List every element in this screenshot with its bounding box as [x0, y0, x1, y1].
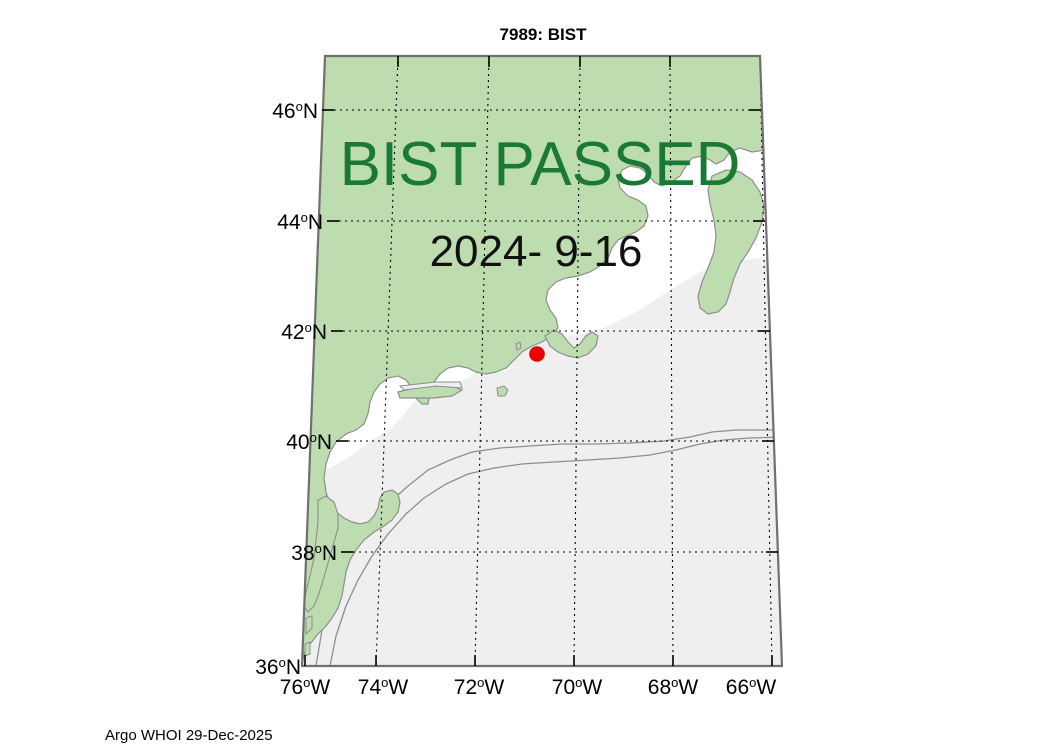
float-position-marker[interactable]	[530, 347, 545, 362]
y-tick-label-42: 42oN	[281, 320, 327, 344]
y-tick-label-46: 46oN	[272, 99, 318, 123]
x-tick-label-76: 76oW	[280, 675, 331, 699]
bist-date-stamp: 2024- 9-16	[430, 227, 643, 276]
land-island-small	[516, 342, 521, 350]
land-small-cape	[305, 642, 310, 656]
y-tick-label-38: 38oN	[291, 541, 337, 565]
map-svg: 7989: BIST	[0, 0, 1050, 750]
x-axis-labels: 76oW 74oW 72oW 70oW 68oW 66oW	[280, 675, 777, 699]
x-tick-label-74: 74oW	[358, 675, 409, 699]
x-tick-label-72: 72oW	[454, 675, 505, 699]
x-tick-label-66: 66oW	[726, 675, 777, 699]
x-tick-label-70: 70oW	[552, 675, 603, 699]
y-tick-label-44: 44oN	[277, 210, 323, 234]
x-tick-label-68: 68oW	[648, 675, 699, 699]
y-tick-label-40: 40oN	[286, 430, 332, 454]
bist-status-stamp: BIST PASSED	[340, 130, 741, 199]
footer-credit: Argo WHOI 29-Dec-2025	[105, 727, 273, 744]
map-figure: 7989: BIST	[0, 0, 1050, 750]
page-title: 7989: BIST	[500, 25, 588, 44]
